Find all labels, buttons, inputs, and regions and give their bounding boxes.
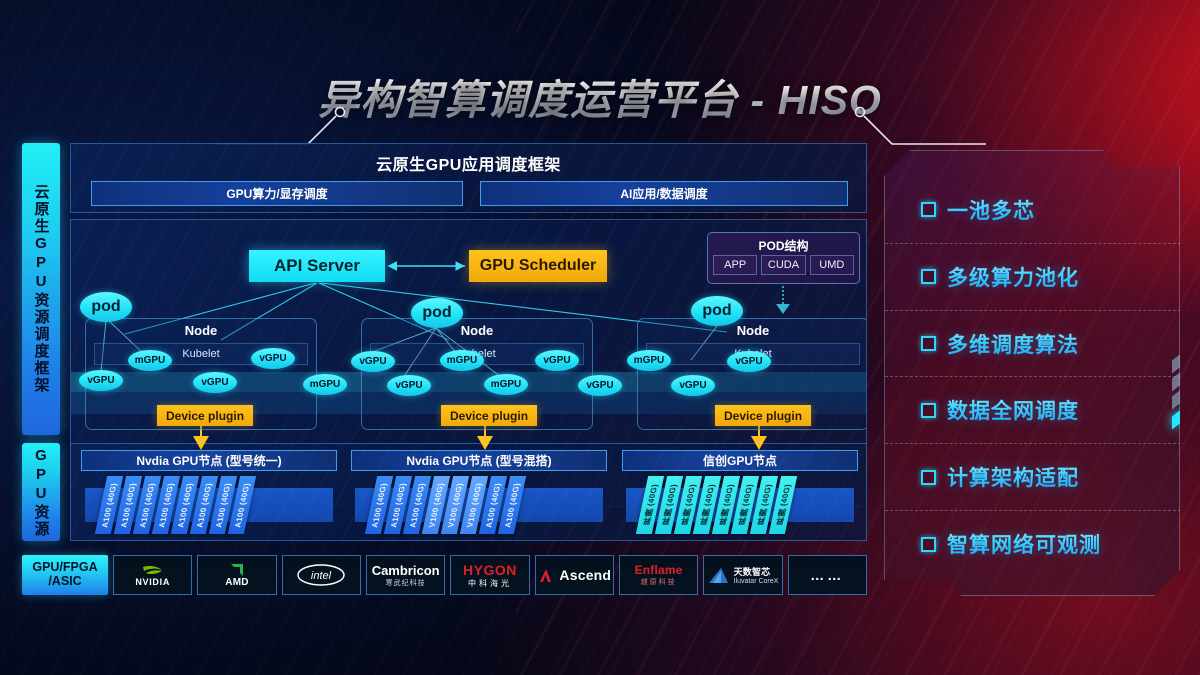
vendor-subname: Iluvatar CoreX xyxy=(734,578,779,585)
vgpu-ellipse[interactable]: vGPU xyxy=(387,375,431,396)
pod-layer-app: APP xyxy=(713,255,757,275)
mgpu-ellipse[interactable]: mGPU xyxy=(440,350,484,371)
vendor-name: HYGON xyxy=(463,562,517,578)
feature-label: 一池多芯 xyxy=(947,195,1035,225)
mgpu-ellipse[interactable]: mGPU xyxy=(303,374,347,395)
node-label: Node xyxy=(362,323,592,338)
gpu-card-row: A100 (40G)A100 (40G)A100 (40G)V100 (40G)… xyxy=(371,476,520,534)
gpu-card-label: 昇腾 (40G) xyxy=(773,484,793,525)
device-plugin-label: Device plugin xyxy=(450,409,528,423)
gpu-unit-label: mGPU xyxy=(634,355,665,366)
gpu-node-group: Nvdia GPU节点 (型号统一) A100 (40G)A100 (40G)A… xyxy=(81,450,337,536)
gpu-group-label: Nvdia GPU节点 (型号统一) xyxy=(81,450,337,471)
device-plugin-tag[interactable]: Device plugin xyxy=(157,405,253,426)
vendor-name: Ascend xyxy=(559,567,611,583)
vendor-hygon[interactable]: HYGON 中科海光 xyxy=(450,555,529,595)
checkbox-square-icon xyxy=(921,403,936,418)
sidebar-tab-label: GPU资源 xyxy=(34,447,49,538)
pod-layer-umd: UMD xyxy=(810,255,854,275)
checkbox-square-icon xyxy=(921,336,936,351)
vendor-name: NVIDIA xyxy=(135,577,170,587)
mgpu-ellipse[interactable]: mGPU xyxy=(128,350,172,371)
framework-title: 云原生GPU应用调度框架 xyxy=(71,151,866,175)
vendor-intel[interactable]: intel xyxy=(282,555,361,595)
gpu-unit-label: mGPU xyxy=(447,355,478,366)
sidebar-tab-cloudnative-gpu-framework[interactable]: 云原生GPU资源调度框架 xyxy=(22,143,60,435)
feature-label: 多级算力池化 xyxy=(947,262,1079,292)
pod-label: pod xyxy=(91,298,120,316)
gpu-card-row: 昇腾 (40G)昇腾 (40G)昇腾 (40G)昇腾 (40G)昇腾 (40G)… xyxy=(642,476,791,534)
svg-text:intel: intel xyxy=(311,570,332,582)
slide-canvas: 异构智算调度运营平台 - HISO 云原生GPU资源调度框架 GPU资源 云原生… xyxy=(0,0,1200,675)
pod-structure-card: POD结构 APP CUDA UMD xyxy=(707,232,860,284)
checkbox-square-icon xyxy=(921,537,936,552)
vendor-name: Enflame xyxy=(635,563,683,577)
vgpu-ellipse[interactable]: vGPU xyxy=(79,370,123,391)
feature-label: 多维调度算法 xyxy=(947,329,1079,359)
vendor-tag-line2: /ASIC xyxy=(48,575,81,589)
checkbox-square-icon xyxy=(921,470,936,485)
vendor-name: Cambricon xyxy=(372,563,440,578)
gpu-card-label: A100 (40G) xyxy=(233,483,252,528)
vendor-enflame[interactable]: Enflame 燧原科技 xyxy=(619,555,698,595)
iluvatar-logo xyxy=(708,567,730,584)
architecture-diagram: 云原生GPU资源调度框架 GPU资源 云原生GPU应用调度框架 GPU算力/显存… xyxy=(22,143,867,601)
gpu-resource-band: Nvdia GPU节点 (型号统一) A100 (40G)A100 (40G)A… xyxy=(70,443,867,541)
vendor-subname: 寒武纪科技 xyxy=(386,578,426,588)
node-label: Node xyxy=(638,323,867,338)
checkbox-square-icon xyxy=(921,269,936,284)
pod-structure-title: POD结构 xyxy=(708,237,859,254)
gpu-scheduler-label: GPU Scheduler xyxy=(480,257,596,275)
amd-logo xyxy=(229,562,245,577)
feature-item-1[interactable]: 一池多芯 xyxy=(885,177,1181,244)
sidebar-tab-gpu-resource[interactable]: GPU资源 xyxy=(22,443,60,541)
feature-item-4[interactable]: 数据全网调度 xyxy=(885,377,1181,444)
vgpu-ellipse[interactable]: vGPU xyxy=(351,351,395,372)
vgpu-ellipse[interactable]: vGPU xyxy=(727,351,771,372)
vendor-cambricon[interactable]: Cambricon 寒武纪科技 xyxy=(366,555,445,595)
feature-item-5[interactable]: 计算架构适配 xyxy=(885,444,1181,511)
vendor-more[interactable]: …… xyxy=(788,555,867,595)
vendor-nvidia[interactable]: NVIDIA xyxy=(113,555,192,595)
gpu-scheduler-block[interactable]: GPU Scheduler xyxy=(469,250,607,282)
pill-label: AI应用/数据调度 xyxy=(620,185,707,202)
gpu-node-group: 信创GPU节点 昇腾 (40G)昇腾 (40G)昇腾 (40G)昇腾 (40G)… xyxy=(622,450,858,536)
vendor-iluvatar[interactable]: 天数智芯 Iluvatar CoreX xyxy=(703,555,782,595)
gpu-card-label: V100 (40G) xyxy=(446,483,464,527)
device-plugin-label: Device plugin xyxy=(166,409,244,423)
feature-item-6[interactable]: 智算网络可观测 xyxy=(885,511,1181,577)
pod-ellipse[interactable]: pod xyxy=(691,296,743,326)
feature-list: 一池多芯多级算力池化多维调度算法数据全网调度计算架构适配智算网络可观测 xyxy=(885,151,1181,597)
feature-item-3[interactable]: 多维调度算法 xyxy=(885,311,1181,378)
pod-label: pod xyxy=(702,302,731,320)
vgpu-ellipse[interactable]: vGPU xyxy=(578,375,622,396)
gpu-unit-label: mGPU xyxy=(310,379,341,390)
sidebar-tab-label: 云原生GPU资源调度框架 xyxy=(34,184,49,394)
ellipsis-icon: …… xyxy=(810,567,844,583)
node-label: Node xyxy=(86,323,316,338)
vgpu-ellipse[interactable]: vGPU xyxy=(251,348,295,369)
gpu-unit-label: mGPU xyxy=(491,379,522,390)
feature-label: 计算架构适配 xyxy=(947,462,1079,492)
pod-ellipse[interactable]: pod xyxy=(80,292,132,322)
gpu-unit-label: vGPU xyxy=(395,380,422,391)
vendor-ascend[interactable]: Ascend xyxy=(535,555,614,595)
device-plugin-tag[interactable]: Device plugin xyxy=(441,405,537,426)
gpu-card-label: A100 (40G) xyxy=(503,483,522,528)
ascend-logo xyxy=(537,567,554,584)
gpu-unit-label: vGPU xyxy=(201,377,228,388)
gpu-unit-label: vGPU xyxy=(543,355,570,366)
gpu-unit-label: vGPU xyxy=(87,375,114,386)
gpu-unit-label: vGPU xyxy=(735,356,762,367)
gpu-group-label: 信创GPU节点 xyxy=(622,450,858,471)
gpu-card-row: A100 (40G)A100 (40G)A100 (40G)A100 (40G)… xyxy=(101,476,250,534)
feature-highlights-panel: 一池多芯多级算力池化多维调度算法数据全网调度计算架构适配智算网络可观测 xyxy=(884,150,1180,596)
vendor-name: 天数智芯 xyxy=(734,565,771,578)
pill-ai-data-scheduling[interactable]: AI应用/数据调度 xyxy=(480,181,848,206)
feature-item-2[interactable]: 多级算力池化 xyxy=(885,244,1181,311)
device-plugin-tag[interactable]: Device plugin xyxy=(715,405,811,426)
vgpu-ellipse[interactable]: vGPU xyxy=(671,375,715,396)
feature-label: 数据全网调度 xyxy=(947,395,1079,425)
vendor-subname: 燧原科技 xyxy=(641,577,677,587)
gpu-node-group: Nvdia GPU节点 (型号混搭) A100 (40G)A100 (40G)A… xyxy=(351,450,607,536)
feature-label: 智算网络可观测 xyxy=(947,529,1101,559)
api-server-label: API Server xyxy=(274,256,360,276)
vendor-tag-line1: GPU/FPGA xyxy=(32,561,97,575)
pod-layer-cuda: CUDA xyxy=(761,255,805,275)
page-title: 异构智算调度运营平台 - HISO xyxy=(302,66,898,126)
vendor-logo-row: GPU/FPGA /ASIC NVIDIA AMD intel Cambrico… xyxy=(22,555,867,595)
device-plugin-label: Device plugin xyxy=(724,409,802,423)
vendor-subname: 中科海光 xyxy=(468,578,512,589)
gpu-unit-label: vGPU xyxy=(259,353,286,364)
title-bar: 异构智算调度运营平台 - HISO xyxy=(0,64,1200,128)
vgpu-ellipse[interactable]: vGPU xyxy=(193,372,237,393)
vendor-name: AMD xyxy=(225,577,248,588)
nvidia-logo xyxy=(140,564,166,577)
vgpu-ellipse[interactable]: vGPU xyxy=(535,350,579,371)
gpu-card-label: V100 (40G) xyxy=(465,483,483,527)
pod-label: pod xyxy=(422,304,451,322)
mgpu-ellipse[interactable]: mGPU xyxy=(627,350,671,371)
pill-label: GPU算力/显存调度 xyxy=(226,185,327,202)
scheduling-framework-band: 云原生GPU应用调度框架 GPU算力/显存调度 AI应用/数据调度 xyxy=(70,143,867,213)
vendor-category-tag: GPU/FPGA /ASIC xyxy=(22,555,108,595)
gpu-unit-label: vGPU xyxy=(679,380,706,391)
gpu-group-label: Nvdia GPU节点 (型号混搭) xyxy=(351,450,607,471)
gpu-card-label: V100 (40G) xyxy=(427,483,445,527)
pod-ellipse[interactable]: pod xyxy=(411,298,463,328)
gpu-unit-label: vGPU xyxy=(586,380,613,391)
intel-logo: intel xyxy=(295,563,347,587)
pill-gpu-compute-scheduling[interactable]: GPU算力/显存调度 xyxy=(91,181,463,206)
vendor-amd[interactable]: AMD xyxy=(197,555,276,595)
mgpu-ellipse[interactable]: mGPU xyxy=(484,374,528,395)
gpu-unit-label: vGPU xyxy=(359,356,386,367)
checkbox-square-icon xyxy=(921,202,936,217)
api-server-block[interactable]: API Server xyxy=(249,250,385,282)
gpu-unit-label: mGPU xyxy=(135,355,166,366)
